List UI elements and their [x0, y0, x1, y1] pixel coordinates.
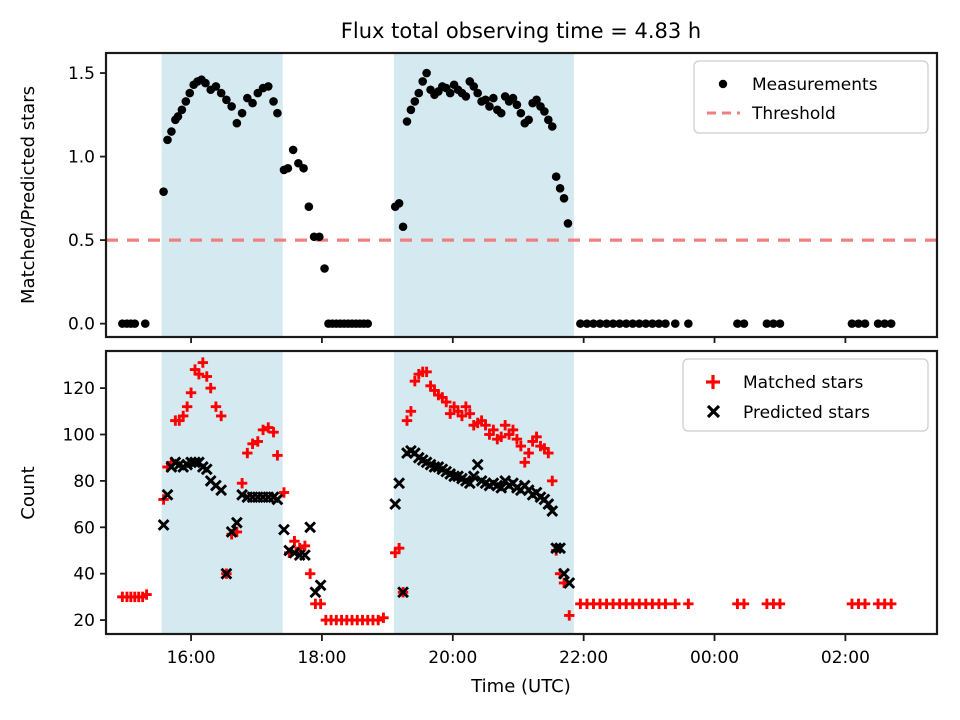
data-point — [284, 164, 293, 173]
bottom-panel-legend[interactable]: Matched stars Predicted stars — [683, 359, 928, 431]
y-tick-label: 1.5 — [68, 64, 95, 84]
data-point — [776, 319, 785, 328]
data-point — [363, 319, 372, 328]
y-tick-label: 60 — [73, 518, 95, 538]
data-point — [299, 164, 308, 173]
data-point — [564, 219, 573, 228]
matched-stars-legend-label: Matched stars — [743, 373, 863, 393]
figure-title: Flux total observing time = 4.83 h — [341, 19, 701, 43]
data-point — [305, 202, 314, 211]
data-point — [556, 184, 565, 193]
x-tick-label: 18:00 — [297, 648, 346, 668]
y-tick-label: 0.0 — [68, 315, 95, 335]
measurements-legend-label: Measurements — [752, 75, 878, 95]
y-tick-label: 0.5 — [68, 231, 95, 251]
y-tick-label: 120 — [63, 379, 95, 399]
y-tick-label: 40 — [73, 565, 95, 585]
y-tick-label: 20 — [73, 611, 95, 631]
x-axis-label: Time (UTC) — [470, 676, 571, 697]
data-point — [141, 319, 150, 328]
data-point — [159, 187, 168, 196]
data-point — [485, 102, 494, 111]
figure-container: Flux total observing time = 4.83 h 0.00.… — [0, 0, 960, 720]
x-tick-label: 16:00 — [167, 648, 216, 668]
data-point — [185, 89, 194, 98]
data-point — [403, 117, 412, 126]
measurements-legend-marker-icon — [719, 80, 727, 88]
bottom-panel-y-axis-label: Count — [18, 466, 39, 519]
data-point — [418, 77, 427, 86]
top-panel-y-axis-label: Matched/Predicted stars — [18, 86, 39, 304]
data-point — [182, 97, 191, 106]
data-point — [671, 319, 680, 328]
data-point — [740, 319, 749, 328]
data-point — [238, 109, 247, 118]
data-point — [273, 109, 282, 118]
data-point — [446, 89, 455, 98]
data-point — [552, 172, 561, 181]
data-point — [411, 97, 420, 106]
x-tick-label: 00:00 — [690, 648, 739, 668]
data-point — [540, 107, 549, 116]
data-point — [395, 199, 404, 208]
threshold-legend-label: Threshold — [751, 104, 836, 124]
x-tick-label: 22:00 — [559, 648, 608, 668]
data-point — [289, 146, 298, 155]
data-point — [178, 106, 187, 115]
data-point — [489, 94, 498, 103]
top-panel-legend[interactable]: Measurements Threshold — [694, 61, 928, 133]
data-point — [548, 122, 557, 131]
data-point — [684, 319, 693, 328]
data-point — [269, 97, 278, 106]
data-point — [473, 89, 482, 98]
data-point — [227, 102, 236, 111]
chart-canvas: Flux total observing time = 4.83 h 0.00.… — [0, 0, 960, 720]
data-point — [861, 319, 870, 328]
observing-block-2 — [394, 351, 574, 634]
data-point — [524, 116, 533, 125]
data-point — [130, 319, 139, 328]
data-point — [414, 89, 423, 98]
data-point — [233, 119, 242, 128]
data-point — [462, 92, 471, 101]
data-point — [399, 222, 408, 231]
y-tick-label: 1.0 — [68, 148, 95, 168]
x-tick-label: 02:00 — [821, 648, 870, 668]
data-point — [517, 109, 526, 118]
y-tick-label: 80 — [73, 472, 95, 492]
data-point — [315, 232, 324, 241]
predicted-stars-legend-label: Predicted stars — [743, 403, 870, 423]
data-point — [167, 127, 176, 136]
data-point — [560, 194, 569, 203]
data-point — [422, 69, 431, 78]
x-tick-label: 20:00 — [428, 648, 477, 668]
data-point — [887, 319, 896, 328]
data-point — [407, 106, 416, 115]
y-tick-label: 100 — [63, 426, 95, 446]
data-point — [513, 100, 522, 109]
data-point — [320, 264, 329, 273]
data-point — [163, 136, 172, 145]
data-point — [661, 319, 670, 328]
data-point — [497, 109, 506, 118]
data-point — [248, 99, 257, 108]
data-point — [264, 82, 273, 91]
